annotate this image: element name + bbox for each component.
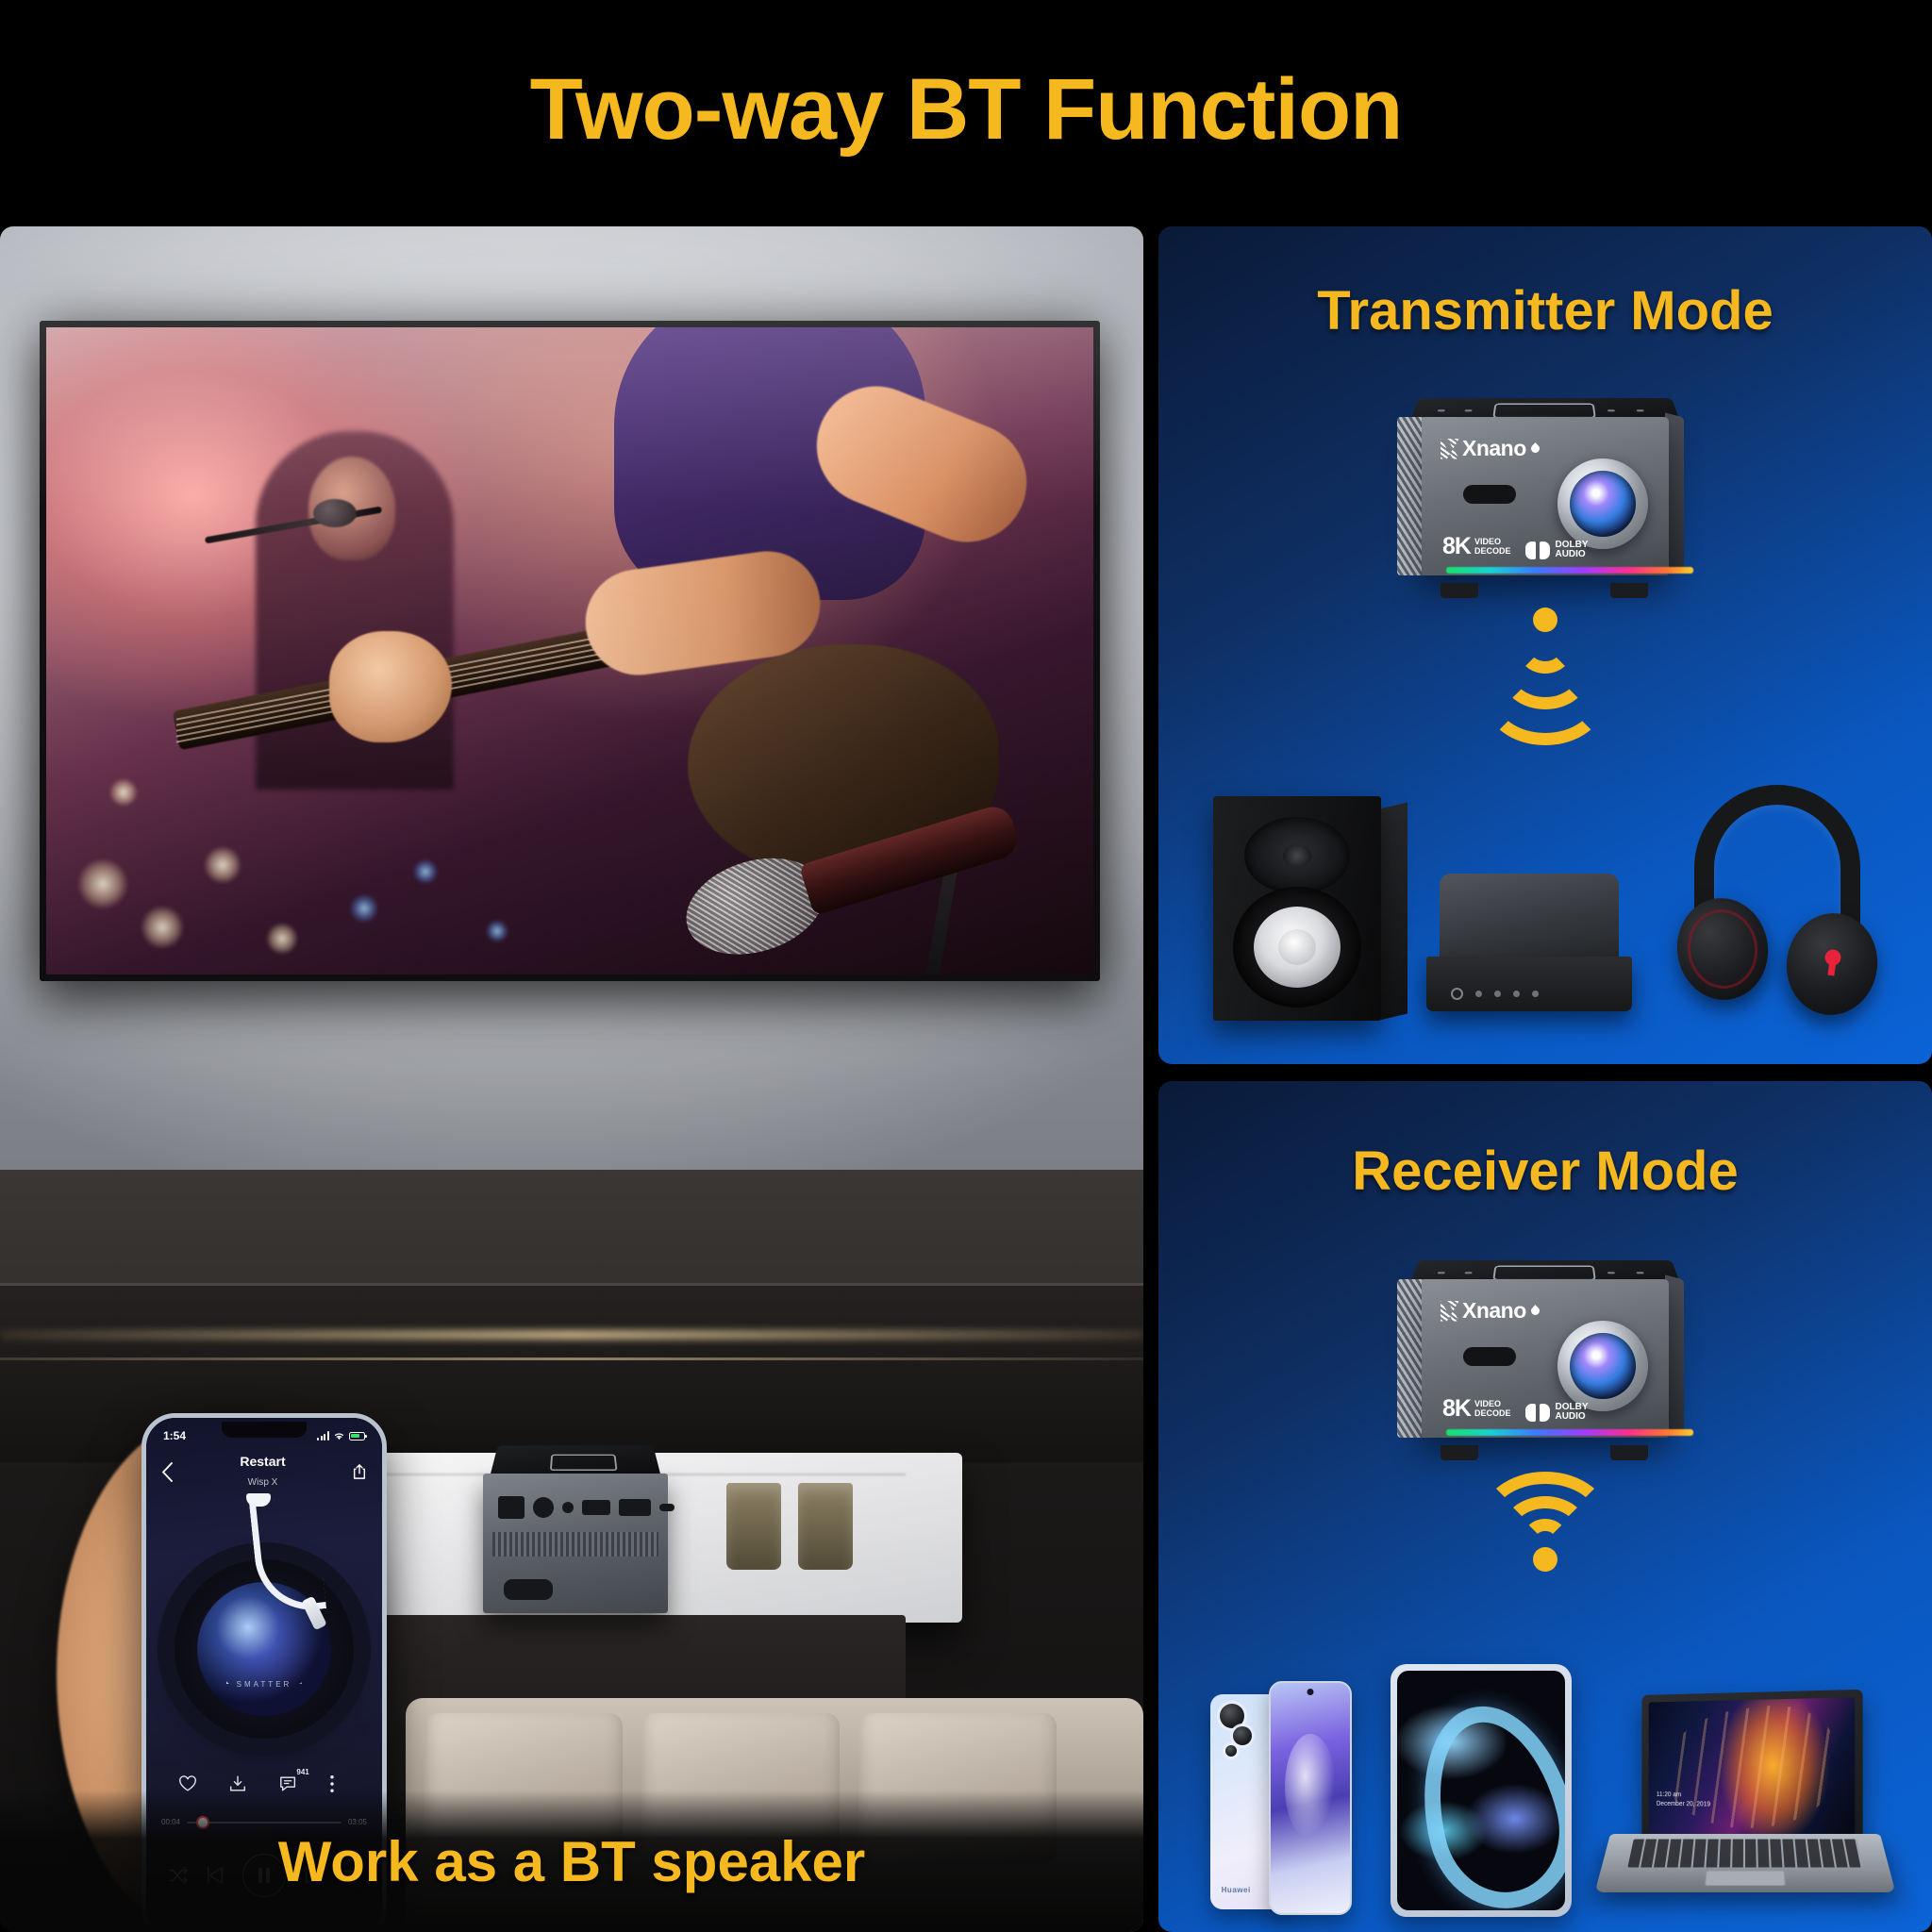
foreground-microphone: [675, 785, 1025, 971]
caption-bar: Work as a BT speaker: [0, 1790, 1143, 1932]
laptop-clock-time: 11:20 am: [1657, 1791, 1681, 1798]
projector-power-socket: [504, 1579, 553, 1600]
xnano-x-mark: [1441, 439, 1459, 459]
front-camera-punch-hole: [1307, 1689, 1313, 1695]
smartphone-front: [1269, 1681, 1352, 1915]
hdmi-port: [619, 1499, 651, 1516]
usb-c-port: [659, 1504, 675, 1511]
wifi-icon: [333, 1431, 345, 1441]
projector-front-face: Xnano 8K VIDEO DECODE DOLBY AUDIO: [1422, 1279, 1669, 1438]
status-time: 1:54: [163, 1429, 186, 1442]
bluetooth-headphones: [1677, 785, 1877, 1021]
laptop-trackpad: [1705, 1871, 1786, 1886]
projector-control-pad: [1492, 1266, 1596, 1281]
speaker-tweeter: [1244, 817, 1350, 894]
comment-count: 941: [296, 1768, 308, 1776]
guitar-body: [688, 644, 999, 880]
mic-grille: [675, 842, 837, 971]
laptop-base: [1595, 1834, 1896, 1892]
projector-badges: 8K VIDEO DECODE DOLBY AUDIO: [1442, 533, 1588, 560]
tablet-device: [1391, 1664, 1572, 1917]
cellular-signal-icon: [317, 1431, 329, 1441]
projector-ir-slot: [1463, 1347, 1516, 1366]
badge-dolby-audio: DOLBY AUDIO: [1525, 1403, 1588, 1423]
battery-icon: [349, 1432, 365, 1441]
sound-box-receiver: [1426, 874, 1632, 1021]
laptop-keyboard: [1628, 1840, 1863, 1868]
mic-stand: [204, 506, 381, 543]
speaker-cone: [1254, 907, 1341, 988]
projector-feet: [1441, 1445, 1648, 1460]
transmitter-mode-panel: Transmitter Mode Xnano 8K VIDEO DEC: [1158, 226, 1932, 1064]
guitarist-forearm: [579, 544, 827, 682]
sound-box-top: [1440, 874, 1619, 964]
projector-rear-face: [483, 1474, 668, 1613]
projector-front-view: Xnano 8K VIDEO DECODE DOLBY AUDIO: [1397, 385, 1693, 585]
dolby-double-d-icon: [1525, 1404, 1550, 1422]
projector-rear-view: [483, 1432, 668, 1613]
concert-background: [46, 327, 1093, 974]
album-art-label: SMATTER: [175, 1680, 354, 1689]
fretting-hand: [329, 631, 452, 742]
speaker-cabinet: [1213, 796, 1381, 1021]
badge-8k-video-decode: 8K VIDEO DECODE: [1442, 533, 1510, 560]
xnano-wordmark: Xnano: [1462, 436, 1526, 461]
mic-stand-foreground: [922, 858, 959, 974]
speaker-dust-cap: [1278, 929, 1316, 965]
xnano-dot-mark: [1529, 442, 1541, 455]
transmitter-mode-title: Transmitter Mode: [1158, 279, 1932, 342]
projector-front-view: Xnano 8K VIDEO DECODE DOLBY AUDIO: [1397, 1247, 1693, 1447]
studio-monitor-speaker: [1213, 796, 1381, 1021]
badge-dolby-audio: DOLBY AUDIO: [1525, 541, 1588, 560]
laptop-screen: 11:20 am December 20, 2019: [1649, 1697, 1856, 1838]
dolby-double-d-icon: [1525, 541, 1550, 559]
drinking-glass: [726, 1483, 781, 1570]
singer-head: [308, 457, 395, 560]
audio-port: [533, 1497, 554, 1518]
laptop-clock-date: December 20, 2019: [1657, 1800, 1710, 1807]
page-title: Two-way BT Function: [530, 60, 1403, 159]
back-chevron-icon[interactable]: [161, 1462, 174, 1482]
projector-rgb-light-strip: [1446, 567, 1693, 574]
header-bar: Two-way BT Function: [0, 0, 1932, 219]
share-icon[interactable]: [352, 1463, 367, 1480]
smartphone-device: Huawei: [1210, 1681, 1352, 1917]
guitarist-upper-arm: [799, 369, 1044, 560]
sound-box-indicator-leds: [1451, 988, 1539, 1000]
xnano-logo: Xnano: [1441, 436, 1540, 461]
receiver-mode-title: Receiver Mode: [1158, 1140, 1932, 1203]
laptop-lid: 11:20 am December 20, 2019: [1642, 1690, 1863, 1846]
phone-notch: [222, 1422, 307, 1438]
caption-text: Work as a BT speaker: [278, 1829, 866, 1894]
xnano-x-mark: [1441, 1301, 1459, 1322]
now-playing-info: Restart Wisp X: [240, 1453, 285, 1491]
laptop-wallpaper-streaks: [1659, 1697, 1843, 1835]
lan-port: [498, 1496, 525, 1519]
projector-feet: [1441, 583, 1648, 598]
projector-port-row: [498, 1496, 675, 1519]
guitarist-torso: [614, 327, 925, 600]
stage-bokeh-lights: [46, 327, 1093, 974]
bluetooth-receive-icon: [1479, 1472, 1611, 1572]
track-title: Restart: [240, 1454, 285, 1469]
receiver-mode-panel: Receiver Mode Xnano 8K VIDEO DECODE: [1158, 1081, 1932, 1932]
concert-photo: [46, 327, 1093, 974]
receiver-device-row: Huawei 11:20 am December 20, 2019: [1158, 1615, 1932, 1917]
projection-wall: [0, 226, 1143, 1170]
speaker-side: [1379, 803, 1407, 1021]
drinking-glass: [798, 1483, 853, 1570]
projector-control-pad: [550, 1455, 618, 1471]
smartphone-brand: Huawei: [1222, 1886, 1251, 1894]
badge-8k-video-decode: 8K VIDEO DECODE: [1442, 1395, 1510, 1423]
horizontal-gutter: [1143, 1064, 1932, 1081]
mic-head: [313, 499, 357, 527]
bt-speaker-panel: 1:54 Restart: [0, 226, 1143, 1932]
singer-figure: [256, 431, 454, 790]
track-artist: Wisp X: [248, 1477, 278, 1488]
projector-badges: 8K VIDEO DECODE DOLBY AUDIO: [1442, 1395, 1588, 1423]
sound-box-front: [1426, 957, 1632, 1011]
cable-graphic: [255, 1499, 262, 1620]
dc-port: [562, 1502, 574, 1513]
tablet-screen: [1397, 1671, 1565, 1910]
earcup-ring: [1683, 905, 1763, 992]
guitar-strings: [46, 327, 1093, 974]
xnano-wordmark: Xnano: [1462, 1298, 1526, 1324]
mic-body: [799, 802, 1022, 916]
projector-control-pad: [1492, 404, 1596, 419]
projector-ir-slot: [1463, 485, 1516, 504]
bluetooth-broadcast-icon: [1484, 608, 1607, 700]
projector-vents: [492, 1532, 658, 1557]
xnano-logo: Xnano: [1441, 1298, 1540, 1324]
usb-port: [582, 1500, 610, 1515]
projector-rgb-light-strip: [1446, 1429, 1693, 1436]
laptop-clock: 11:20 am December 20, 2019: [1657, 1790, 1710, 1808]
player-nav-bar: Restart Wisp X: [146, 1454, 382, 1490]
speaker-woofer: [1233, 887, 1361, 1008]
cable-wire: [249, 1496, 326, 1616]
xnano-dot-mark: [1529, 1305, 1541, 1317]
laptop-device: 11:20 am December 20, 2019: [1610, 1692, 1880, 1917]
projected-screen: [40, 321, 1100, 981]
transmitter-device-row: [1158, 738, 1932, 1021]
tablet-body: [1391, 1664, 1572, 1917]
camera-module: [1220, 1704, 1259, 1758]
guitar-neck: [173, 617, 661, 749]
album-art: SMATTER: [175, 1559, 354, 1739]
projector-front-face: Xnano 8K VIDEO DECODE DOLBY AUDIO: [1422, 417, 1669, 575]
